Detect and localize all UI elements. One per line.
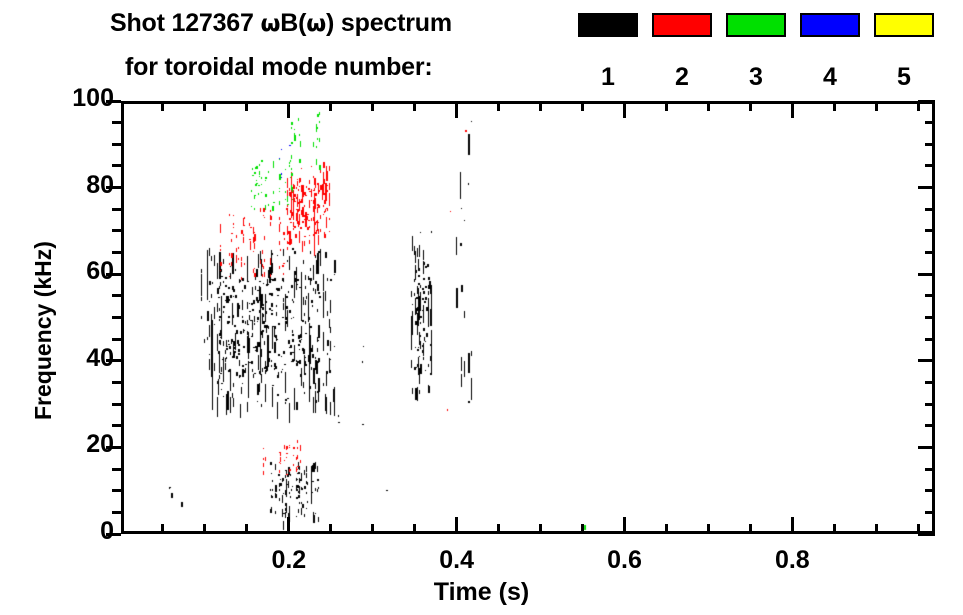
legend-swatch-1 [578, 13, 638, 37]
x-minor-tick [371, 524, 374, 534]
y-minor-tick-right [925, 143, 935, 146]
x-major-tick-0.4 [455, 517, 458, 534]
y-minor-tick-right [925, 208, 935, 211]
x-minor-tick [665, 524, 668, 534]
x-minor-tick-top [497, 101, 500, 111]
page-subtitle: for toroidal mode number: [125, 53, 433, 82]
x-tick-label-0.4: 0.4 [412, 546, 502, 575]
page-title: Shot 127367 ωB(ω) spectrum [110, 9, 452, 38]
x-minor-tick [707, 524, 710, 534]
title-suffix: ) spectrum [326, 9, 452, 37]
y-minor-tick-right [925, 338, 935, 341]
x-minor-tick-top [581, 101, 584, 111]
x-minor-tick [161, 524, 164, 534]
title-mid: B( [280, 9, 306, 37]
legend-label-4: 4 [800, 63, 860, 92]
legend-swatch-2 [652, 13, 712, 37]
x-major-tick-top-0.6 [623, 101, 626, 118]
x-major-tick-top-0.2 [287, 101, 290, 118]
y-major-tick-right-100 [918, 100, 935, 103]
x-minor-tick [497, 524, 500, 534]
y-minor-tick-right [925, 251, 935, 254]
legend-label-2: 2 [652, 63, 712, 92]
y-minor-tick-right [925, 489, 935, 492]
omega-symbol-1: ω [260, 11, 280, 37]
y-tick-label-20: 20 [44, 430, 114, 459]
x-minor-tick-top [203, 101, 206, 111]
x-minor-tick [413, 524, 416, 534]
x-minor-tick-top [539, 101, 542, 111]
x-major-tick-top-0.8 [791, 101, 794, 118]
x-minor-tick-top [707, 101, 710, 111]
y-tick-label-80: 80 [44, 171, 114, 200]
x-minor-tick-top [413, 101, 416, 111]
omega-symbol-2: ω [306, 11, 326, 37]
x-minor-tick-top [875, 101, 878, 111]
legend-label-5: 5 [874, 63, 934, 92]
x-minor-tick [329, 524, 332, 534]
x-minor-tick [833, 524, 836, 534]
title-prefix: Shot 127367 [110, 9, 260, 37]
legend-swatch-3 [726, 13, 786, 37]
plot-area[interactable] [121, 101, 935, 534]
x-axis-title: Time (s) [0, 578, 963, 607]
legend-label-1: 1 [578, 63, 638, 92]
x-major-tick-0.8 [791, 517, 794, 534]
x-major-tick-0.6 [623, 517, 626, 534]
y-major-tick-right-40 [918, 359, 935, 362]
spectrogram-figure: Shot 127367 ωB(ω) spectrum for toroidal … [0, 0, 963, 615]
x-minor-tick [245, 524, 248, 534]
legend: 12345 [578, 13, 946, 89]
y-minor-tick-right [925, 381, 935, 384]
y-major-tick-right-60 [918, 273, 935, 276]
x-tick-label-0.6: 0.6 [580, 546, 670, 575]
x-minor-tick [875, 524, 878, 534]
x-minor-tick-top [161, 101, 164, 111]
y-minor-tick-right [925, 424, 935, 427]
y-major-tick-right-0 [918, 533, 935, 536]
x-minor-tick [749, 524, 752, 534]
y-minor-tick-right [925, 316, 935, 319]
x-minor-tick-top [371, 101, 374, 111]
x-minor-tick-top [665, 101, 668, 111]
y-minor-tick-right [925, 164, 935, 167]
x-minor-tick-top [833, 101, 836, 111]
y-minor-tick-right [925, 403, 935, 406]
x-major-tick-0.2 [287, 517, 290, 534]
x-major-tick-top-0.4 [455, 101, 458, 118]
x-minor-tick [203, 524, 206, 534]
y-axis-title: Frequency (kHz) [30, 241, 57, 420]
x-minor-tick [581, 524, 584, 534]
y-minor-tick-right [925, 468, 935, 471]
y-minor-tick-right [925, 294, 935, 297]
x-minor-tick-top [329, 101, 332, 111]
y-major-tick-right-20 [918, 446, 935, 449]
y-major-tick-right-80 [918, 186, 935, 189]
x-minor-tick-top [749, 101, 752, 111]
legend-swatch-5 [874, 13, 934, 37]
y-minor-tick-right [925, 511, 935, 514]
legend-swatch-4 [800, 13, 860, 37]
x-tick-label-0.8: 0.8 [747, 546, 837, 575]
x-minor-tick [917, 524, 920, 534]
y-tick-label-0: 0 [44, 517, 114, 546]
y-tick-label-100: 100 [44, 84, 114, 113]
x-tick-label-0.2: 0.2 [244, 546, 334, 575]
x-minor-tick-top [245, 101, 248, 111]
spectrogram-canvas [121, 101, 935, 534]
x-minor-tick [539, 524, 542, 534]
x-minor-tick-top [917, 101, 920, 111]
legend-label-3: 3 [726, 63, 786, 92]
y-minor-tick-right [925, 229, 935, 232]
y-minor-tick-right [925, 121, 935, 124]
